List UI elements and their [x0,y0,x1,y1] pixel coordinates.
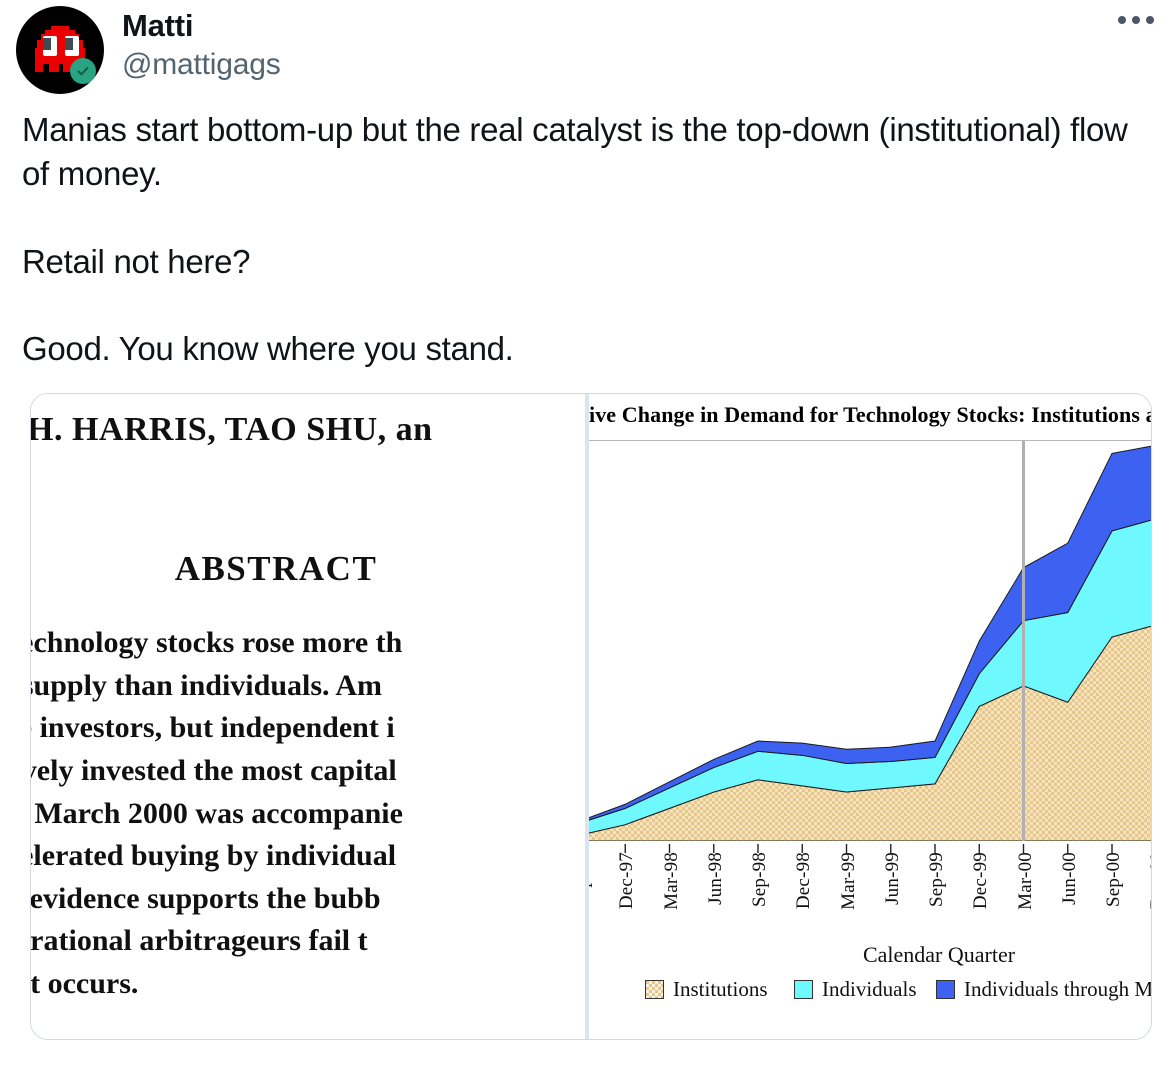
dot [1118,16,1126,24]
chart-legend: InstitutionsIndividualsIndividuals throu… [589,977,1151,1007]
x-tick-label: Sep-00 [1103,852,1125,907]
paper-body-line: rsal in March 2000 was accompanie [31,793,585,836]
x-tick-label: Mar-00 [1015,852,1037,910]
tweet-header: Matti @mattigags [0,0,1174,94]
dot [1132,16,1140,24]
chart-title: ive Change in Demand for Technology Stoc… [589,402,1151,428]
paper-body-line: ll, our evidence supports the bubb [31,878,585,921]
chart-x-ticks [589,841,1151,851]
paper-body-line: ology supply than individuals. Am [31,665,585,708]
x-tick-label: Sep-99 [926,852,948,907]
x-tick-label: Dec-99 [970,852,992,909]
user-handle[interactable]: @mattigags [122,48,281,83]
x-tick-label: Jun-00 [1059,852,1081,905]
verified-check-icon [70,58,96,84]
x-tick-label: Sep-97 [589,852,594,907]
x-tick-label: Mar-98 [661,852,683,910]
more-horizontal-icon[interactable] [1118,16,1154,24]
paper-body-line: s) actively invested the most capital [31,750,585,793]
legend-label: Individuals [822,977,917,1002]
x-tick-label: Dec-00 [1147,852,1151,909]
paper-screenshot: REY H. HARRIS, TAO SHU, an ABSTRACT 0, a… [31,394,585,1039]
paper-body-line: g effort occurs. [31,963,585,1006]
avatar[interactable] [16,6,104,94]
media-image-paper[interactable]: REY H. HARRIS, TAO SHU, an ABSTRACT 0, a… [31,394,585,1039]
paper-abstract-body: 0, as technology stocks rose more th olo… [31,622,585,1005]
dot [1146,16,1154,24]
chart-x-axis-title: Calendar Quarter [589,942,1151,968]
paper-authors-line: REY H. HARRIS, TAO SHU, an [31,411,585,449]
legend-item: Individuals through Mutual Fu [936,977,1151,1002]
legend-item: Individuals [794,977,917,1002]
x-tick-label: Dec-98 [793,852,815,909]
chart-figure: ive Change in Demand for Technology Stoc… [589,394,1151,1039]
tweet-card: Matti @mattigags Manias start bottom-up … [0,0,1174,1040]
x-tick-label: Sep-98 [749,852,771,907]
x-tick-label: Mar-99 [838,852,860,910]
chart-plot-area [589,441,1151,841]
paper-body-line: 0, as technology stocks rose more th [31,622,585,665]
legend-item: Institutions [645,977,768,1002]
paper-body-line: which rational arbitrageurs fail t [31,920,585,963]
legend-swatch-icon [645,980,664,999]
x-tick-label: Jun-99 [882,852,904,905]
legend-swatch-icon [794,980,813,999]
legend-swatch-icon [936,980,955,999]
legend-label: Institutions [673,977,768,1002]
paper-body-line: at accelerated buying by individual [31,835,585,878]
tweet-text: Manias start bottom-up but the real cata… [0,94,1174,371]
x-tick-label: Dec-97 [616,852,638,909]
media-image-chart[interactable]: ive Change in Demand for Technology Stoc… [589,394,1151,1039]
display-name[interactable]: Matti [122,8,281,44]
author-names: Matti @mattigags [122,6,281,82]
x-tick-label: Jun-98 [705,852,727,905]
stacked-area-svg [589,441,1151,841]
paper-body-line: ressive investors, but independent i [31,707,585,750]
legend-label: Individuals through Mutual Fu [964,977,1151,1002]
chart-x-tick-labels: Sep-97Dec-97Mar-98Jun-98Sep-98Dec-98Mar-… [589,852,1151,938]
paper-abstract-heading: ABSTRACT [31,549,585,589]
tweet-media-container[interactable]: REY H. HARRIS, TAO SHU, an ABSTRACT 0, a… [30,393,1152,1040]
